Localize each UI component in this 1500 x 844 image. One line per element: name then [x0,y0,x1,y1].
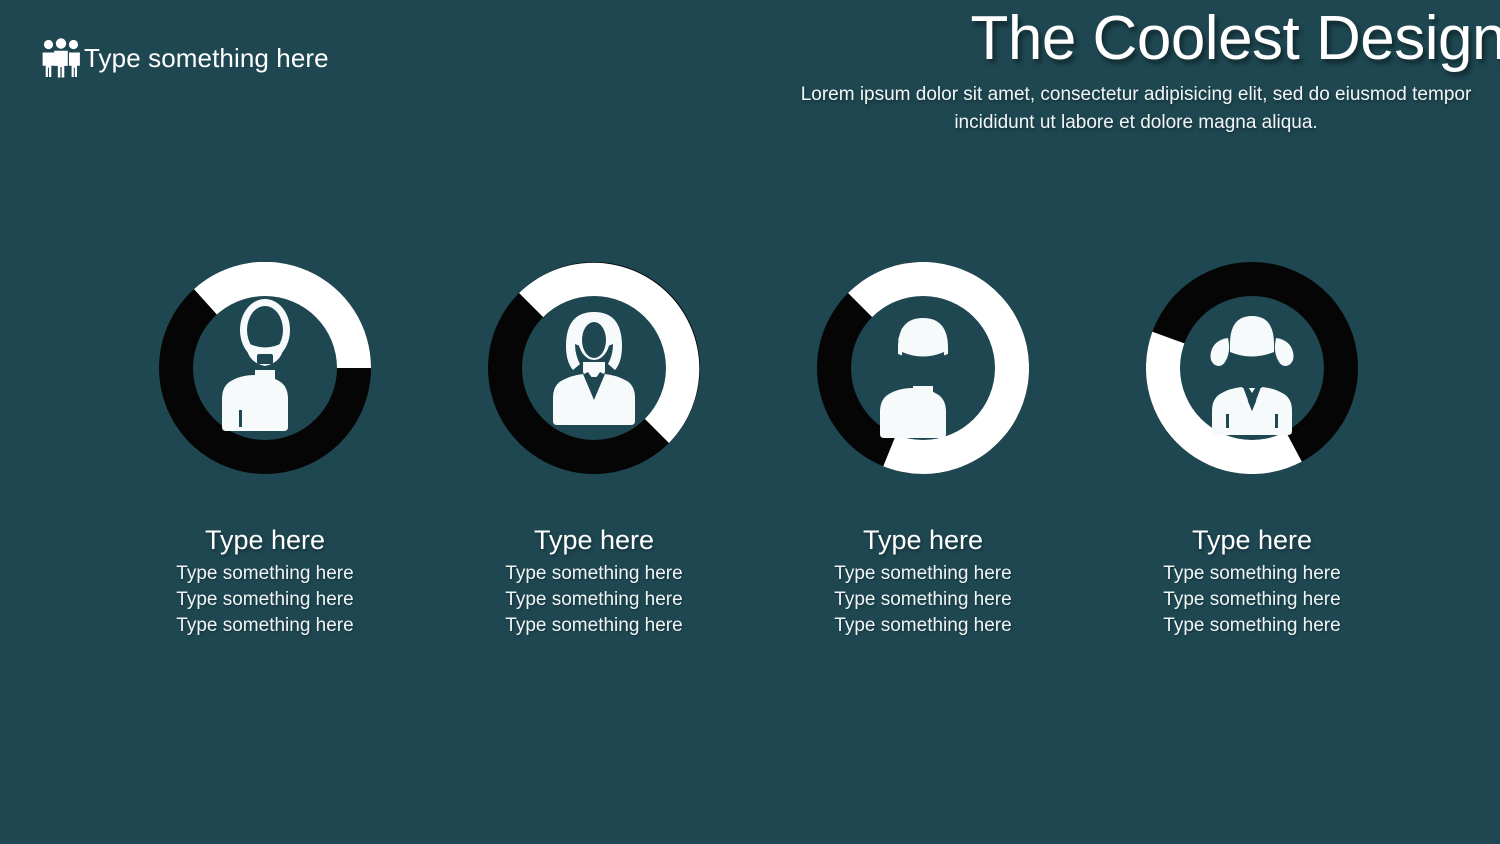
card-3-line-3[interactable]: Type something here [834,613,1011,639]
card-2-title[interactable]: Type here [505,526,682,556]
card-4-line-3[interactable]: Type something here [1163,613,1340,639]
card-3-text: Type here Type something here Type somet… [834,526,1011,639]
card-2-line-2[interactable]: Type something here [505,587,682,613]
cards-row: Type here Type something here Type somet… [0,262,1500,639]
group-of-people-icon [40,38,82,78]
header-left-group[interactable]: Type something here [40,38,329,78]
card-1-line-1[interactable]: Type something here [176,561,353,587]
page-title[interactable]: The Coolest Design [766,6,1500,71]
card-1-line-2[interactable]: Type something here [176,587,353,613]
card-2[interactable]: Type here Type something here Type somet… [427,262,761,639]
card-3-line-1[interactable]: Type something here [834,561,1011,587]
card-4-title[interactable]: Type here [1163,526,1340,556]
card-4-line-2[interactable]: Type something here [1163,587,1340,613]
header-right-group: The Coolest Design Lorem ipsum dolor sit… [766,6,1500,136]
card-1-text: Type here Type something here Type somet… [176,526,353,639]
card-3[interactable]: Type here Type something here Type somet… [756,262,1090,639]
page-subtitle[interactable]: Lorem ipsum dolor sit amet, consectetur … [766,81,1500,136]
donut-chart-1-svg [159,262,371,474]
card-1-title[interactable]: Type here [176,526,353,556]
card-2-line-3[interactable]: Type something here [505,613,682,639]
donut-chart-3[interactable] [817,262,1029,474]
card-3-line-2[interactable]: Type something here [834,587,1011,613]
card-2-line-1[interactable]: Type something here [505,561,682,587]
donut-chart-1[interactable] [159,262,371,474]
donut-chart-2[interactable] [488,262,700,474]
donut-chart-4[interactable] [1146,262,1358,474]
header-left-label[interactable]: Type something here [84,45,329,71]
donut-chart-3-svg [817,262,1029,474]
card-4-line-1[interactable]: Type something here [1163,561,1340,587]
donut-chart-4-svg [1146,262,1358,474]
card-4-text: Type here Type something here Type somet… [1163,526,1340,639]
card-4[interactable]: Type here Type something here Type somet… [1085,262,1419,639]
card-1[interactable]: Type here Type something here Type somet… [98,262,432,639]
donut-chart-2-svg [488,262,700,474]
card-2-text: Type here Type something here Type somet… [505,526,682,639]
slide-canvas: Type something here The Coolest Design L… [0,0,1500,844]
card-3-title[interactable]: Type here [834,526,1011,556]
card-1-line-3[interactable]: Type something here [176,613,353,639]
